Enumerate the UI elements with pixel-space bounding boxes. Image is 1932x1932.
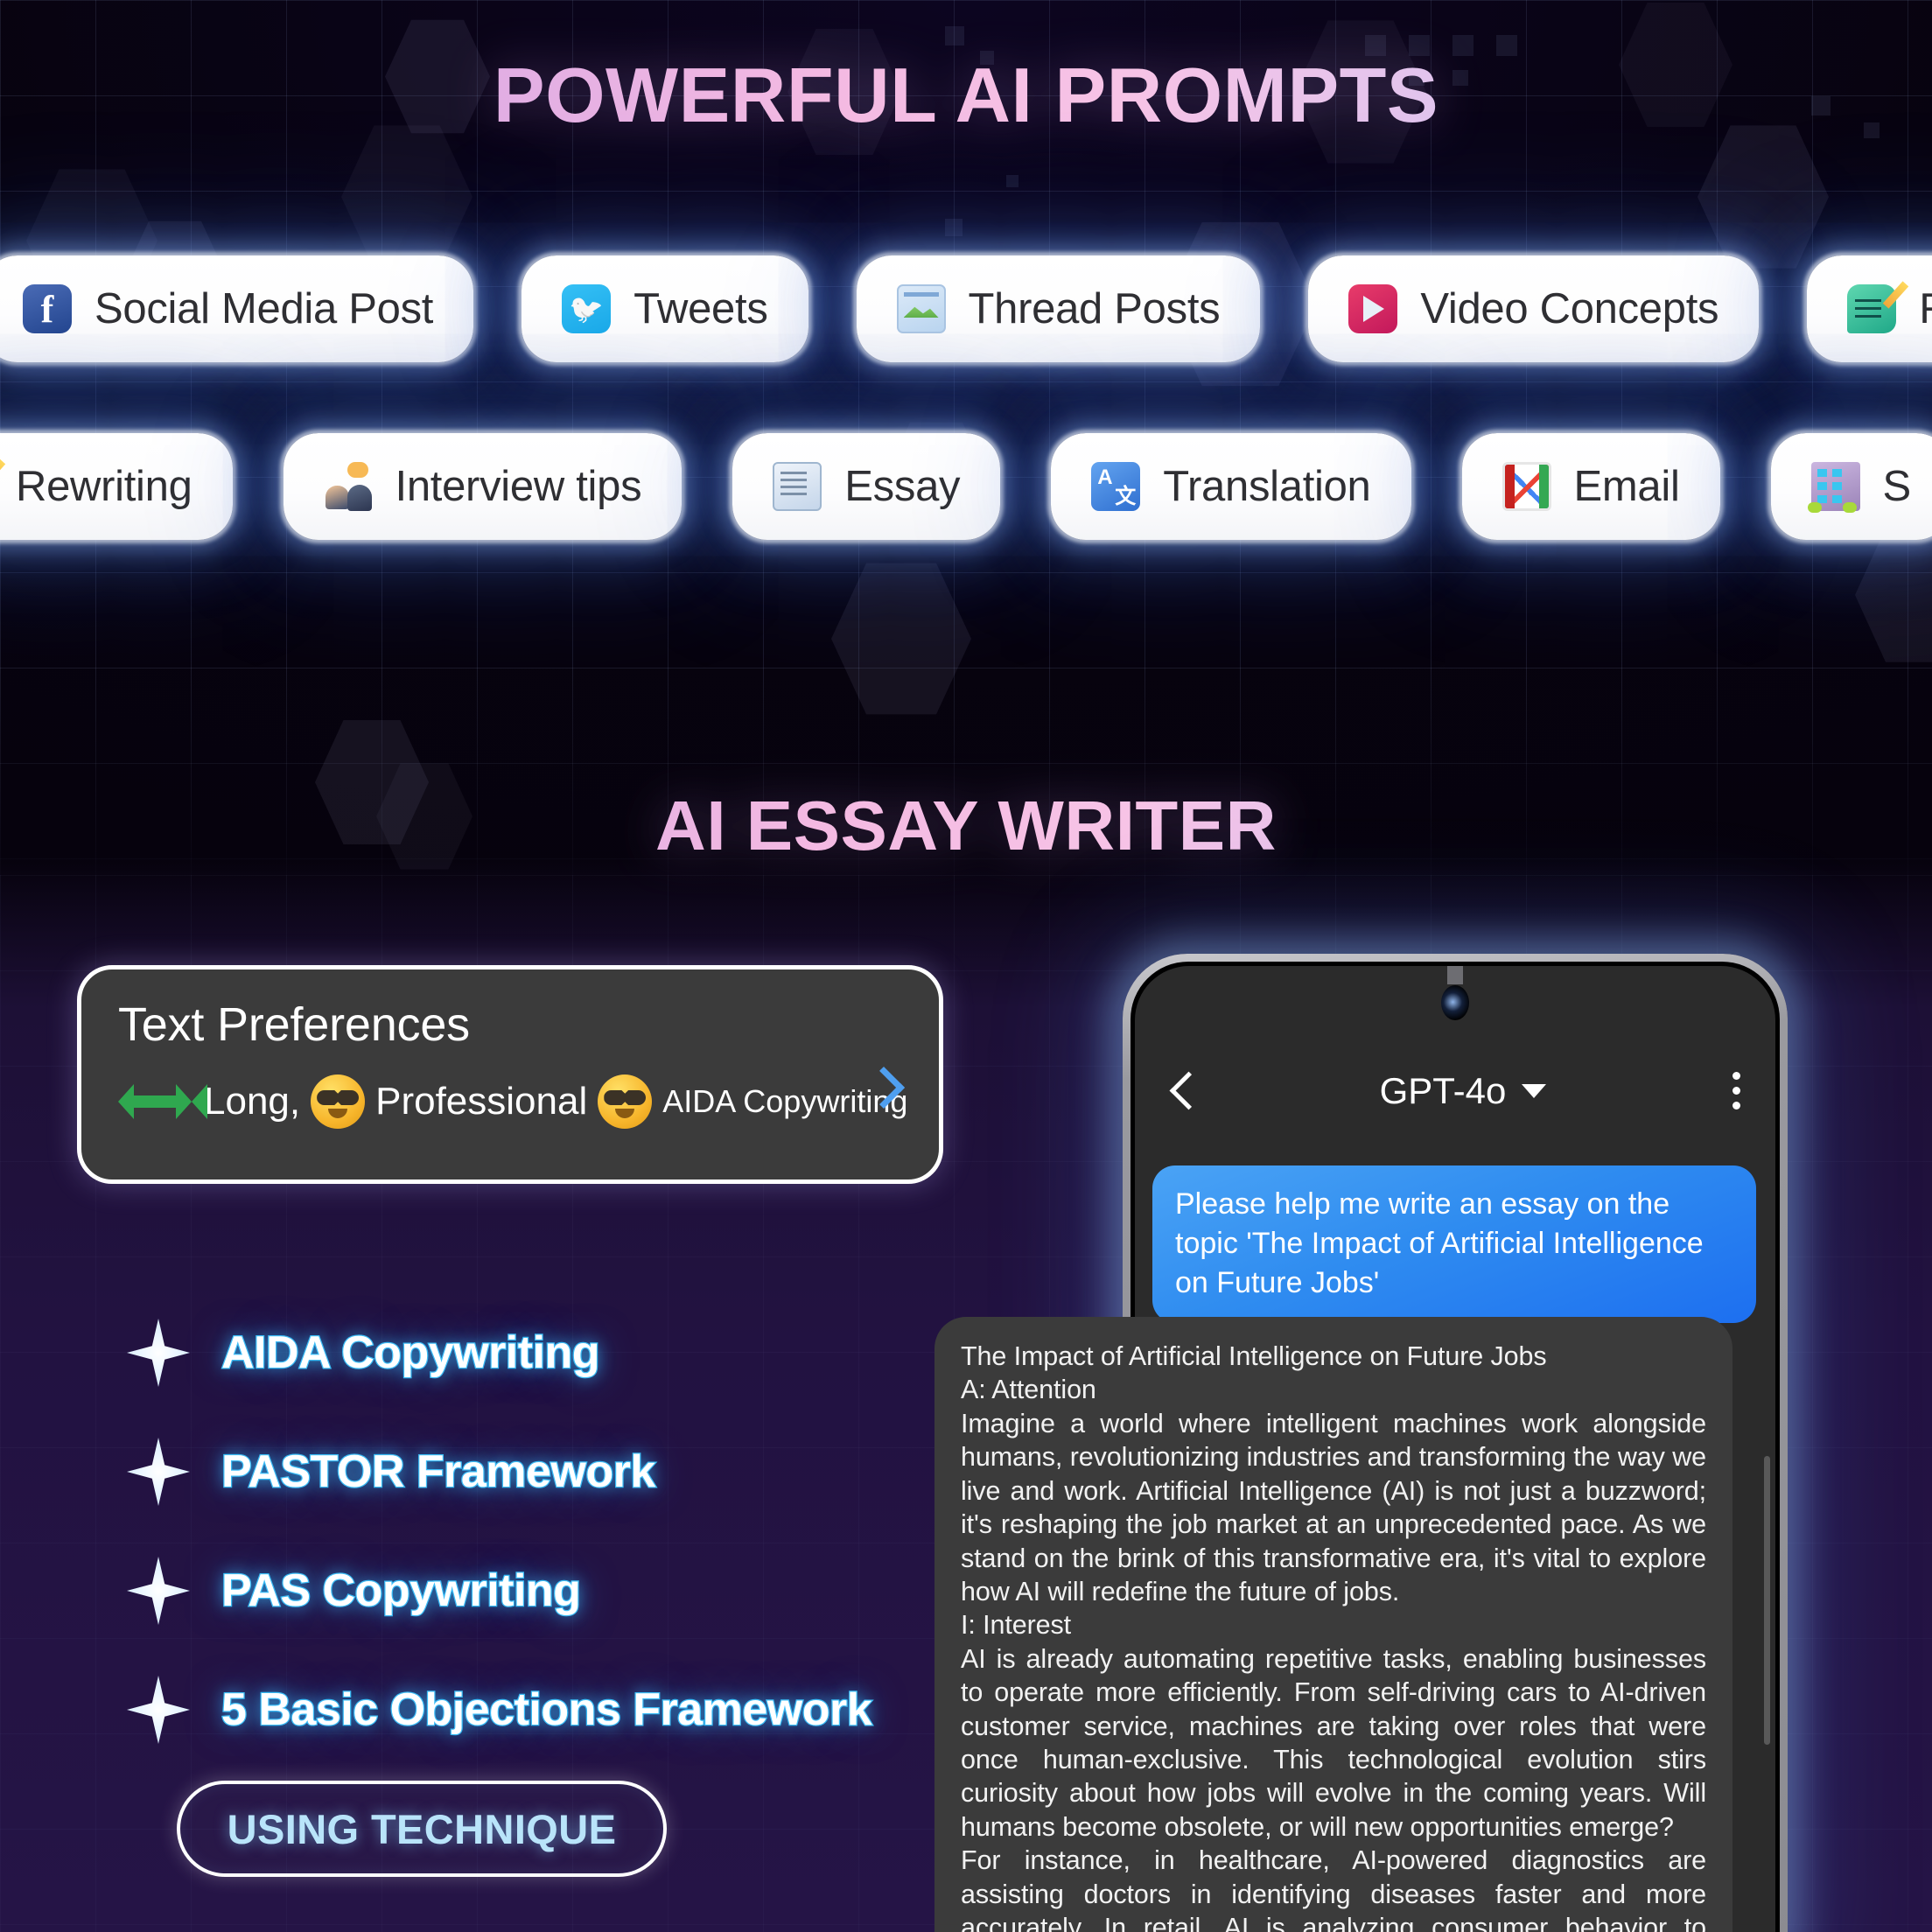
chip-label: Social Media Post: [94, 284, 433, 333]
chevron-down-icon: [1522, 1084, 1546, 1098]
cool-face-icon: [311, 1074, 365, 1129]
thread-document-icon: [897, 284, 946, 333]
framework-label: 5 Basic Objections Framework: [221, 1683, 871, 1736]
cool-face-icon: [598, 1074, 652, 1129]
phone-camera-icon: [1441, 985, 1469, 1020]
essay-page-icon: [773, 462, 822, 511]
chip-startup-partial-right[interactable]: S: [1771, 433, 1932, 540]
chip-interview-tips[interactable]: Interview tips: [283, 433, 682, 540]
chip-label: Translation: [1163, 462, 1370, 511]
chevron-left-icon[interactable]: [1168, 1070, 1194, 1112]
page-title: POWERFUL AI PROMPTS: [0, 51, 1932, 140]
chip-label: Rewriting: [16, 462, 192, 511]
translate-icon: [1091, 462, 1140, 511]
section-title: AI ESSAY WRITER: [0, 786, 1932, 866]
chip-thread-posts[interactable]: Thread Posts: [857, 255, 1261, 362]
list-item[interactable]: PAS Copywriting: [127, 1531, 871, 1650]
preference-length: Long,: [204, 1080, 300, 1123]
using-technique-button[interactable]: USING TECHNIQUE: [177, 1781, 667, 1877]
framework-label: PASTOR Framework: [221, 1445, 655, 1498]
list-item[interactable]: 5 Basic Objections Framework: [127, 1650, 871, 1769]
framework-label: PAS Copywriting: [221, 1564, 580, 1617]
sparkle-icon: [127, 1557, 190, 1625]
left-right-arrow-icon: [118, 1084, 192, 1119]
chip-tweets[interactable]: Tweets: [521, 255, 808, 362]
office-building-icon: [1811, 462, 1860, 511]
chip-video-concepts[interactable]: Video Concepts: [1308, 255, 1759, 362]
prompt-category-row-top: Social Media Post Tweets Thread Posts Vi…: [0, 255, 1932, 362]
chip-translation[interactable]: Translation: [1051, 433, 1410, 540]
response-paragraph-interest-2: For instance, in healthcare, AI-powered …: [961, 1844, 1706, 1932]
response-heading-interest: I: Interest: [961, 1608, 1706, 1641]
chat-app-header: GPT-4o: [1135, 1043, 1775, 1139]
framework-label: AIDA Copywriting: [221, 1326, 599, 1379]
response-paragraph-attention: Imagine a world where intelligent machin…: [961, 1407, 1706, 1609]
chip-label: Interview tips: [395, 462, 642, 511]
chip-email[interactable]: Email: [1462, 433, 1720, 540]
response-title: The Impact of Artificial Intelligence on…: [961, 1340, 1706, 1373]
chip-label: Email: [1574, 462, 1680, 511]
list-item[interactable]: AIDA Copywriting: [127, 1293, 871, 1412]
rewrite-bubble-icon: [1847, 284, 1896, 333]
chip-label: S: [1883, 462, 1911, 511]
chip-label: Thread Posts: [969, 284, 1221, 333]
chip-label: Video Concepts: [1420, 284, 1718, 333]
text-preferences-title: Text Preferences: [118, 997, 902, 1052]
using-technique-label: USING TECHNIQUE: [227, 1805, 617, 1853]
facebook-icon: [23, 284, 72, 333]
chip-rewriting-partial-right[interactable]: R: [1807, 255, 1932, 362]
user-message-bubble: Please help me write an essay on the top…: [1152, 1165, 1756, 1323]
chip-essay[interactable]: Essay: [732, 433, 1000, 540]
sparkle-icon: [127, 1438, 190, 1506]
gmail-icon: [1502, 462, 1551, 511]
assistant-response-panel: The Impact of Artificial Intelligence on…: [934, 1317, 1732, 1932]
twitter-icon: [562, 284, 611, 333]
interview-people-icon: [324, 462, 373, 511]
chip-label: Tweets: [633, 284, 767, 333]
chip-label: R: [1919, 284, 1932, 333]
text-preferences-values: Long, Professional AIDA Copywriting: [118, 1074, 902, 1129]
chip-rewriting[interactable]: Rewriting: [0, 433, 233, 540]
response-paragraph-interest: AI is already automating repetitive task…: [961, 1642, 1706, 1844]
preference-tone: Professional: [375, 1080, 587, 1123]
prompt-category-row-bottom: Rewriting Interview tips Essay Translati…: [0, 433, 1932, 540]
model-name-label: GPT-4o: [1380, 1070, 1507, 1112]
list-item[interactable]: PASTOR Framework: [127, 1412, 871, 1531]
sparkle-icon: [127, 1676, 190, 1744]
video-play-icon: [1348, 284, 1397, 333]
chip-social-media-post[interactable]: Social Media Post: [0, 255, 473, 362]
kebab-menu-icon[interactable]: [1732, 1070, 1742, 1112]
response-heading-attention: A: Attention: [961, 1373, 1706, 1406]
model-selector[interactable]: GPT-4o: [1194, 1070, 1732, 1112]
sparkle-icon: [127, 1319, 190, 1387]
scrollbar[interactable]: [1764, 1456, 1770, 1745]
framework-list: AIDA Copywriting PASTOR Framework PAS Co…: [127, 1293, 871, 1769]
text-preferences-card[interactable]: Text Preferences Long, Professional AIDA…: [77, 965, 943, 1184]
phone-speaker: [1447, 966, 1463, 984]
chip-label: Essay: [844, 462, 960, 511]
